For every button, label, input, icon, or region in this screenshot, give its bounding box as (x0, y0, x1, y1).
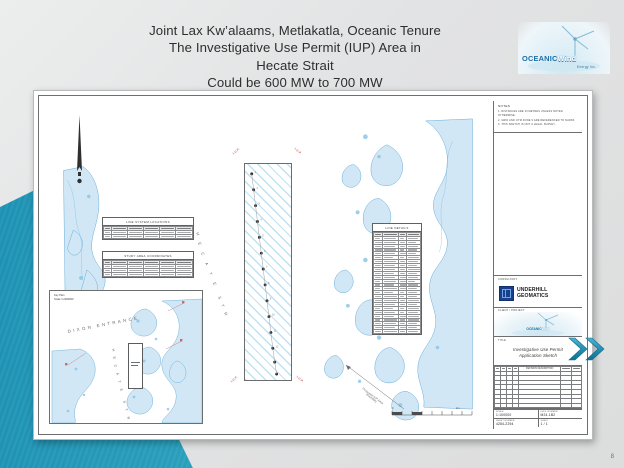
note-item: 1. Distances are in metres unless noted … (498, 110, 578, 119)
svg-text:1: 1 (255, 171, 257, 174)
svg-text:H: H (111, 348, 116, 352)
title-panel-spacer (494, 133, 582, 275)
client-block: CLIENT / PROJECT OCEANICWind (494, 308, 582, 338)
oceanic-logo-word-secondary: Wind (557, 54, 576, 63)
svg-text:A: A (204, 262, 210, 267)
note-item: 3. This sketch is not a legal survey. (498, 123, 578, 127)
north-arrow-icon (75, 115, 84, 189)
line-system-locations-title: LINE SYSTEM LOCATIONS (103, 218, 193, 226)
study-area-coordinates-grid (103, 260, 193, 277)
notes-heading: NOTES (498, 104, 578, 108)
svg-text:10: 10 (272, 314, 275, 317)
graphic-scale-bar: 0 km (390, 405, 476, 419)
svg-text:C: C (200, 252, 206, 257)
dwg-number-cell: DWG. NUMBER M24-1B2 (539, 410, 583, 418)
scale-cell: SCALE 1:100000 (494, 410, 539, 418)
svg-text:E: E (212, 282, 218, 287)
line-system-locations-table[interactable]: LINE SYSTEM LOCATIONS (102, 217, 194, 240)
dwg-number-value: M24-1B2 (541, 413, 581, 417)
line-details-title: LINE DETAILS (373, 224, 421, 232)
table-row (495, 403, 582, 408)
svg-text:T: T (117, 380, 122, 384)
footer-row-2: SHEET NUMBER 4284-2294 SHEET 1 / 1 (494, 418, 582, 427)
svg-text:T: T (220, 304, 226, 309)
investigative-use-permit-area[interactable]: 123 456 789 101112 (244, 163, 292, 381)
underhill-wordmark-line2: GEOMATICS (517, 294, 548, 300)
sheet-cell: SHEET 1 / 1 (539, 419, 583, 427)
tenure-vertex-markers: 123 456 789 101112 (245, 164, 291, 380)
next-slide-chevrons[interactable] (566, 334, 610, 364)
svg-text:T: T (124, 408, 129, 412)
svg-text:E: E (119, 388, 124, 392)
underhill-mark-icon (499, 286, 514, 301)
svg-text:S: S (122, 400, 127, 404)
oceanic-logo-word-primary: OCEANIC (522, 54, 557, 63)
underhill-wordmark: UNDERHILL GEOMATICS (517, 288, 548, 300)
scale-value: 1:100000 (496, 413, 536, 417)
svg-text:6: 6 (264, 250, 266, 253)
svg-text:11: 11 (274, 329, 277, 332)
svg-text:S: S (217, 296, 223, 301)
svg-text:7: 7 (266, 266, 268, 269)
client-word-primary: OCEANIC (526, 327, 541, 331)
inset-tenure-polygon (128, 343, 143, 389)
table-row (104, 234, 193, 238)
svg-text:8: 8 (268, 282, 270, 285)
svg-text:km: km (456, 406, 459, 410)
wind-turbine-icon (518, 22, 610, 74)
table-row (374, 330, 421, 334)
svg-text:3: 3 (258, 203, 260, 206)
chevron-right-icon[interactable] (566, 334, 610, 364)
client-logo-wordmark: OCEANICWind (526, 327, 549, 331)
sheet-number-cell: SHEET NUMBER 4284-2294 (494, 419, 539, 427)
svg-text:C: C (113, 364, 118, 368)
svg-text:R: R (126, 416, 131, 420)
study-area-coordinates-title: STUDY AREA COORDINATES (103, 252, 193, 260)
survey-drawing-sheet[interactable]: H E C A T E S T R (33, 90, 593, 440)
oceanic-logo-tagline: Energy Inc. (577, 65, 596, 69)
oceanic-logo-wordmark: OCEANICWind (522, 54, 576, 63)
sheet-value: 1 / 1 (541, 422, 581, 426)
client-wind-turbine-icon (494, 312, 582, 336)
client-oceanic-wind-logo: OCEANICWind (494, 312, 582, 336)
underhill-geomatics-logo: UNDERHILL GEOMATICS (494, 281, 582, 307)
sheet-border-frame: H E C A T E S T R (38, 95, 588, 435)
line-system-locations-grid (103, 226, 193, 239)
table-row (104, 272, 193, 276)
revision-block[interactable]: REVISION DESCRIPTION (494, 366, 582, 409)
svg-text:4: 4 (260, 218, 262, 221)
svg-text:9: 9 (270, 298, 272, 301)
svg-text:E: E (197, 242, 203, 247)
inset-coastline-artwork: DIXON ENTRANCE H E C A T E S T R (50, 291, 202, 423)
svg-text:R: R (223, 312, 229, 317)
notes-block: NOTES 1. Distances are in metres unless … (494, 101, 582, 133)
page-number: 8 (611, 454, 614, 460)
svg-text:DIXON ENTRANCE: DIXON ENTRANCE (67, 315, 140, 334)
svg-text:H: H (195, 232, 201, 237)
revision-grid: REVISION DESCRIPTION (494, 366, 582, 408)
footer-row-1: SCALE 1:100000 DWG. NUMBER M24-1B2 (494, 409, 582, 418)
svg-text:2: 2 (257, 187, 259, 190)
oceanic-wind-logo: OCEANICWind Energy Inc. (518, 22, 610, 74)
svg-text:E: E (112, 356, 117, 360)
svg-text:12: 12 (276, 345, 279, 348)
line-details-table[interactable]: LINE DETAILS (372, 223, 422, 335)
svg-text:T: T (208, 272, 214, 277)
consultant-block: CONSULTANT UNDERHILL GEOMATICS (494, 275, 582, 308)
map-canvas[interactable]: H E C A T E S T R (44, 101, 492, 429)
svg-text:A: A (115, 372, 120, 376)
key-plan-inset[interactable]: Key Plan Scale 1:2000000 (49, 290, 203, 424)
client-word-secondary: Wind (542, 327, 550, 331)
svg-text:5: 5 (262, 234, 264, 237)
sheet-number-value: 4284-2294 (496, 422, 536, 426)
svg-text:0: 0 (392, 406, 394, 410)
study-area-coordinates-table[interactable]: STUDY AREA COORDINATES (102, 251, 194, 278)
line-details-grid (373, 232, 421, 334)
drawing-title-panel[interactable]: NOTES 1. Distances are in metres unless … (493, 101, 582, 429)
